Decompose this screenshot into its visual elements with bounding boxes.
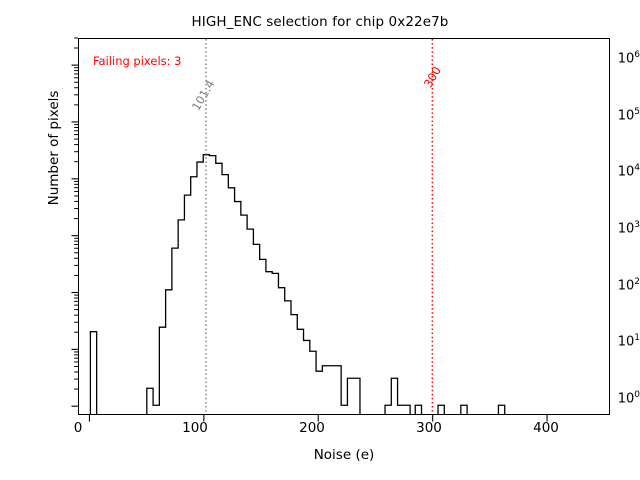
y-axis-label: Number of pixels: [46, 38, 62, 258]
histogram-outline: [90, 155, 504, 414]
x-tick-label-200: 200: [282, 420, 342, 436]
x-tick-label-100: 100: [165, 420, 225, 436]
histogram-steps: [90, 155, 504, 414]
failing-pixels-annotation: Failing pixels: 3: [93, 54, 182, 68]
x-tick-label-400: 400: [516, 420, 576, 436]
figure-canvas: HIGH_ENC selection for chip 0x22e7b Numb…: [0, 0, 640, 480]
plot-axes: Failing pixels: 3 101.4 300: [78, 38, 610, 415]
x-tick-label-300: 300: [399, 420, 459, 436]
vertical-cut-lines: [206, 39, 432, 414]
x-tick-label-0: 0: [48, 420, 108, 436]
chart-title: HIGH_ENC selection for chip 0x22e7b: [0, 14, 640, 30]
x-axis-label: Noise (e): [78, 447, 610, 463]
histogram-svg: [79, 39, 609, 414]
